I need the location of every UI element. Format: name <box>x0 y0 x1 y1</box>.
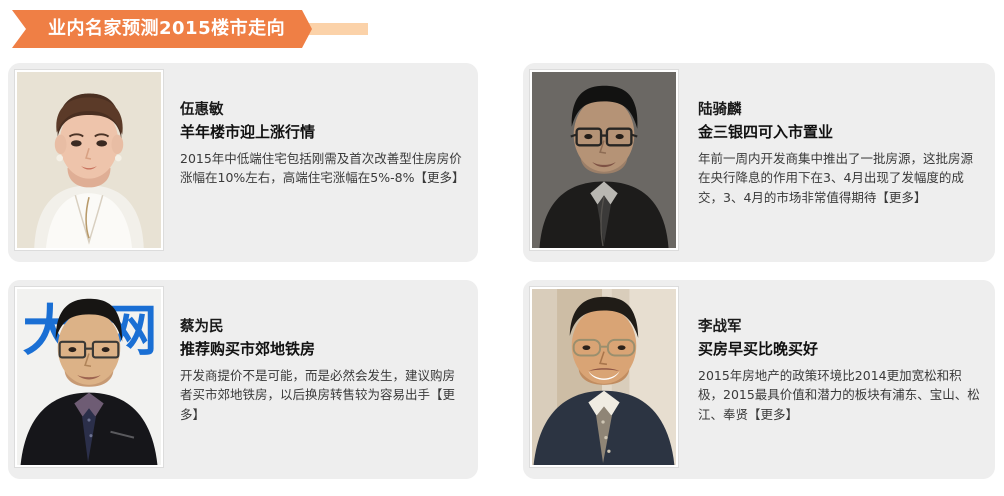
expert-headline[interactable]: 推荐购买市郊地铁房 <box>180 338 466 361</box>
expert-card[interactable]: 李战军 买房早买比晚买好 2015年房地产的政策环境比2014更加宽松和积极，2… <box>523 280 995 479</box>
expert-summary[interactable]: 开发商提价不是可能，而是必然会发生，建议购房者买市郊地铁房，以后换房转售较为容易… <box>180 366 466 424</box>
expert-info: 伍惠敏 羊年楼市迎上涨行情 2015年中低端住宅包括刚需及首次改善型住房房价涨幅… <box>180 99 466 188</box>
expert-card[interactable]: 伍惠敏 羊年楼市迎上涨行情 2015年中低端住宅包括刚需及首次改善型住房房价涨幅… <box>8 63 478 262</box>
expert-photo-wuhuimin <box>17 72 161 248</box>
page-title: 业内名家预测2015楼市走向 <box>48 10 285 48</box>
expert-name: 蔡为民 <box>180 316 466 338</box>
expert-headline[interactable]: 羊年楼市迎上涨行情 <box>180 121 466 144</box>
expert-summary[interactable]: 2015年中低端住宅包括刚需及首次改善型住房房价涨幅在10%左右，高端住宅涨幅在… <box>180 149 466 188</box>
avatar <box>530 70 678 250</box>
expert-photo-lizhanjun <box>532 289 676 465</box>
expert-summary[interactable]: 年前一周内开发商集中推出了一批房源，这批房源在央行降息的作用下在3、4月出现了发… <box>698 149 983 207</box>
expert-card-grid: 伍惠敏 羊年楼市迎上涨行情 2015年中低端住宅包括刚需及首次改善型住房房价涨幅… <box>0 63 1004 496</box>
expert-info: 陆骑麟 金三银四可入市置业 年前一周内开发商集中推出了一批房源，这批房源在央行降… <box>698 99 983 207</box>
expert-name: 李战军 <box>698 316 983 338</box>
avatar: 大 网 <box>15 287 163 467</box>
expert-name: 陆骑麟 <box>698 99 983 121</box>
expert-info: 李战军 买房早买比晚买好 2015年房地产的政策环境比2014更加宽松和积极，2… <box>698 316 983 424</box>
expert-photo-caiweimin: 大 网 <box>17 289 161 465</box>
avatar <box>530 287 678 467</box>
expert-card[interactable]: 陆骑麟 金三银四可入市置业 年前一周内开发商集中推出了一批房源，这批房源在央行降… <box>523 63 995 262</box>
expert-headline[interactable]: 买房早买比晚买好 <box>698 338 983 361</box>
expert-photo-luqilin <box>532 72 676 248</box>
expert-summary[interactable]: 2015年房地产的政策环境比2014更加宽松和积极，2015最具价值和潜力的板块… <box>698 366 983 424</box>
expert-card[interactable]: 大 网 <box>8 280 478 479</box>
expert-info: 蔡为民 推荐购买市郊地铁房 开发商提价不是可能，而是必然会发生，建议购房者买市郊… <box>180 316 466 424</box>
section-banner: 业内名家预测2015楼市走向 <box>12 10 368 48</box>
expert-name: 伍惠敏 <box>180 99 466 121</box>
expert-headline[interactable]: 金三银四可入市置业 <box>698 121 983 144</box>
avatar <box>15 70 163 250</box>
